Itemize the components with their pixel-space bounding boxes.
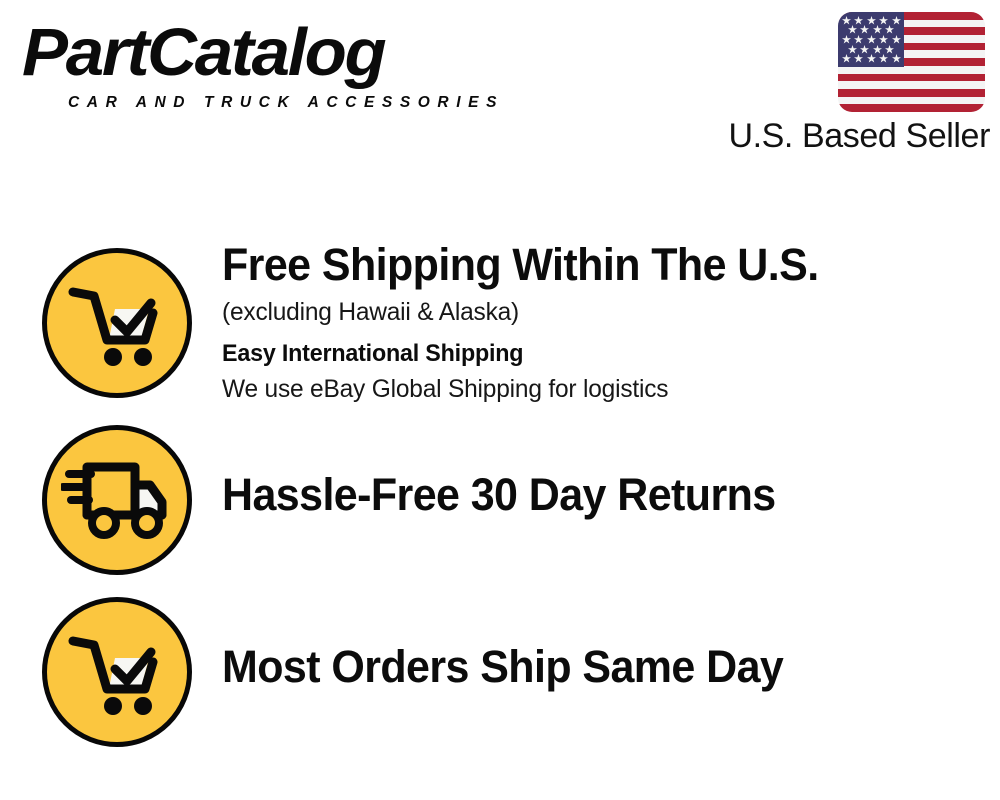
flag-stripe	[838, 104, 985, 112]
feature-heading: Free Shipping Within The U.S.	[222, 238, 891, 292]
flag-star-icon	[842, 54, 851, 63]
feature-row: Hassle-Free 30 Day Returns	[0, 414, 1000, 586]
brand-wordmark: PartCatalog	[22, 18, 384, 88]
flag-stripe	[838, 89, 985, 97]
flag-star-row	[838, 45, 904, 54]
flag-star-icon	[860, 25, 869, 34]
brand-logo: PartCatalog CAR AND TRUCK ACCESSORIES	[22, 18, 492, 118]
shopping-cart-check-icon	[42, 597, 192, 747]
feature-text: Hassle-Free 30 Day Returns	[222, 468, 922, 522]
flag-star-icon	[885, 45, 894, 54]
feature-heading: Most Orders Ship Same Day	[222, 640, 891, 694]
flag-star-icon	[848, 45, 857, 54]
flag-star-icon	[873, 25, 882, 34]
feature-row: Most Orders Ship Same Day	[0, 586, 1000, 758]
flag-star-icon	[879, 54, 888, 63]
flag-star-row	[838, 16, 904, 25]
shopping-cart-check-icon	[42, 248, 192, 398]
us-based-seller-label: U.S. Based Seller	[724, 116, 990, 156]
flag-star-icon	[854, 16, 863, 25]
flag-stripe	[838, 74, 985, 82]
flag-star-icon	[867, 35, 876, 44]
flag-star-row	[838, 35, 904, 44]
feature-row: Free Shipping Within The U.S. (excluding…	[0, 232, 1000, 414]
flag-star-icon	[879, 35, 888, 44]
feature-text: Free Shipping Within The U.S. (excluding…	[222, 238, 922, 406]
flag-star-icon	[879, 16, 888, 25]
flag-star-icon	[854, 35, 863, 44]
flag-canton	[838, 12, 904, 67]
us-flag-icon	[838, 12, 985, 112]
flag-star-icon	[848, 25, 857, 34]
flag-star-icon	[842, 35, 851, 44]
feature-heading: Hassle-Free 30 Day Returns	[222, 468, 891, 522]
flag-star-icon	[854, 54, 863, 63]
brand-tagline: CAR AND TRUCK ACCESSORIES	[68, 94, 504, 112]
feature-subnote: We use eBay Global Shipping for logistic…	[222, 372, 908, 406]
feature-text: Most Orders Ship Same Day	[222, 640, 922, 694]
flag-star-icon	[842, 16, 851, 25]
flag-star-icon	[873, 45, 882, 54]
flag-stripe	[838, 81, 985, 89]
delivery-truck-icon	[42, 425, 192, 575]
flag-star-icon	[860, 45, 869, 54]
banner-header: PartCatalog CAR AND TRUCK ACCESSORIES	[0, 0, 1000, 175]
flag-star-row	[838, 54, 904, 63]
flag-star-icon	[892, 54, 901, 63]
flag-star-icon	[892, 16, 901, 25]
flag-star-icon	[885, 25, 894, 34]
flag-star-row	[838, 25, 904, 34]
feature-subheading: Easy International Shipping	[222, 337, 901, 371]
flag-stripe	[838, 97, 985, 105]
flag-star-icon	[867, 16, 876, 25]
flag-star-icon	[892, 35, 901, 44]
feature-note: (excluding Hawaii & Alaska)	[222, 294, 908, 330]
flag-star-icon	[867, 54, 876, 63]
